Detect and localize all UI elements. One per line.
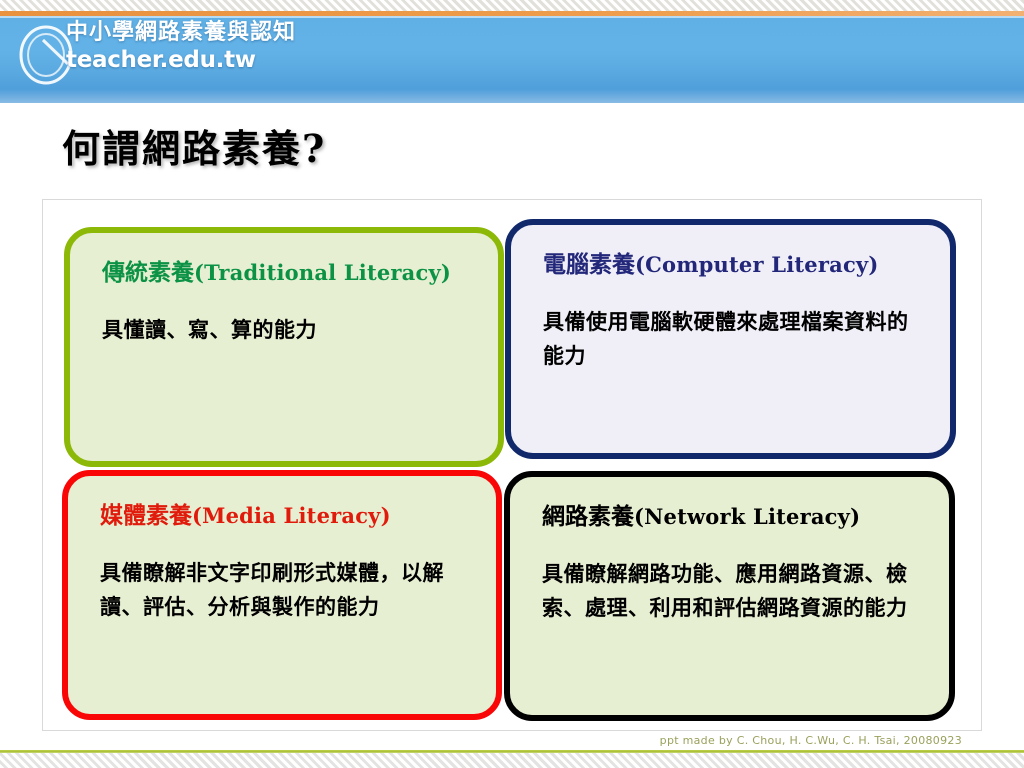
logo-domain-name: teacher.edu.tw bbox=[66, 46, 346, 74]
logo-chinese-name: 中小學網路素養與認知 bbox=[66, 20, 346, 46]
literacy-card-traditional: 傳統素養(Traditional Literacy) 具懂讀、寫、算的能力 bbox=[64, 227, 504, 467]
logo-text-group: 中小學網路素養與認知 teacher.edu.tw bbox=[66, 20, 346, 74]
heading-chinese: 電腦素養 bbox=[543, 251, 635, 278]
slide-canvas: 中小學網路素養與認知 teacher.edu.tw 何謂網路素養? 傳統素養(T… bbox=[0, 0, 1024, 768]
literacy-card-media: 媒體素養(Media Literacy) 具備瞭解非文字印刷形式媒體，以解讀、評… bbox=[62, 470, 502, 720]
heading-english: (Traditional Literacy) bbox=[194, 260, 451, 285]
heading-english: (Network Literacy) bbox=[634, 504, 860, 529]
heading-english: (Computer Literacy) bbox=[635, 252, 878, 277]
footer-credit: ppt made by C. Chou, H. C.Wu, C. H. Tsai… bbox=[660, 734, 962, 747]
literacy-card-heading: 網路素養(Network Literacy) bbox=[542, 503, 925, 531]
literacy-card-network: 網路素養(Network Literacy) 具備瞭解網路功能、應用網路資源、檢… bbox=[504, 471, 955, 721]
banner-bottom-glow bbox=[0, 89, 1024, 103]
heading-chinese: 網路素養 bbox=[542, 503, 634, 530]
literacy-card-body: 具備瞭解非文字印刷形式媒體，以解讀、評估、分析與製作的能力 bbox=[100, 556, 472, 624]
literacy-card-heading: 電腦素養(Computer Literacy) bbox=[543, 251, 926, 279]
heading-chinese: 傳統素養 bbox=[102, 259, 194, 286]
literacy-card-heading: 傳統素養(Traditional Literacy) bbox=[102, 259, 474, 287]
top-hatch-band bbox=[0, 0, 1024, 11]
heading-chinese: 媒體素養 bbox=[100, 502, 192, 529]
bottom-hatch-band bbox=[0, 753, 1024, 768]
literacy-card-computer: 電腦素養(Computer Literacy) 具備使用電腦軟硬體來處理檔案資料… bbox=[505, 219, 956, 459]
literacy-card-body: 具懂讀、寫、算的能力 bbox=[102, 313, 474, 347]
literacy-card-heading: 媒體素養(Media Literacy) bbox=[100, 502, 472, 530]
literacy-card-body: 具備瞭解網路功能、應用網路資源、檢索、處理、利用和評估網路資源的能力 bbox=[542, 557, 925, 625]
heading-english: (Media Literacy) bbox=[192, 503, 391, 528]
site-logo: 中小學網路素養與認知 teacher.edu.tw bbox=[14, 20, 344, 90]
page-title: 何謂網路素養? bbox=[62, 118, 326, 173]
literacy-card-body: 具備使用電腦軟硬體來處理檔案資料的能力 bbox=[543, 305, 926, 373]
